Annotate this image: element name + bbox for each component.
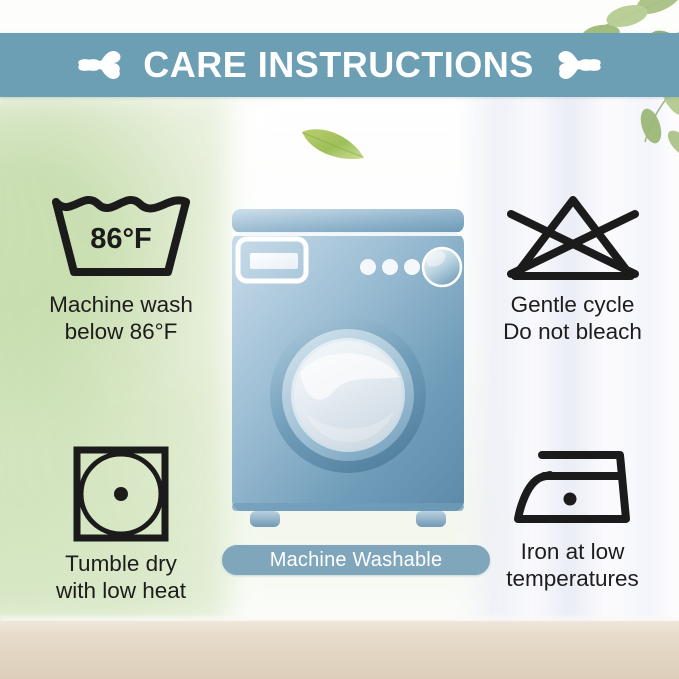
care-label-tumble-dry: Tumble dry with low heat	[16, 551, 226, 604]
care-instructions-infographic: CARE INSTRUCTIONS 86°F Machine wash belo…	[0, 0, 679, 679]
washer-foot-left	[250, 511, 280, 527]
care-item-machine-wash: 86°F Machine wash below 86°F	[16, 192, 226, 345]
wash-temperature-text: 86°F	[90, 223, 152, 255]
triangle-crossed-out-icon	[497, 192, 649, 284]
washer-foot-right	[416, 511, 446, 527]
machine-washable-badge: Machine Washable	[222, 545, 490, 575]
washer-display	[250, 253, 298, 269]
floating-leaf-icon	[298, 122, 368, 166]
tumble-dry-low-icon	[70, 443, 172, 543]
iron-one-dot-icon	[508, 443, 638, 531]
fleur-de-lis-icon	[77, 43, 129, 87]
care-label-iron-low: Iron at low temperatures	[470, 539, 675, 592]
care-label-machine-wash: Machine wash below 86°F	[16, 292, 226, 345]
care-item-do-not-bleach: Gentle cycle Do not bleach	[470, 192, 675, 345]
header-banner: CARE INSTRUCTIONS	[0, 33, 679, 97]
page-title: CARE INSTRUCTIONS	[143, 47, 534, 83]
wooden-table-surface	[0, 621, 679, 679]
washing-machine-illustration	[228, 205, 468, 535]
care-item-tumble-dry: Tumble dry with low heat	[16, 443, 226, 604]
care-item-iron-low: Iron at low temperatures	[470, 443, 675, 592]
care-label-do-not-bleach: Gentle cycle Do not bleach	[470, 292, 675, 345]
badge-label: Machine Washable	[270, 550, 443, 570]
fleur-de-lis-icon	[550, 43, 602, 87]
wash-tub-icon: 86°F	[46, 192, 196, 284]
